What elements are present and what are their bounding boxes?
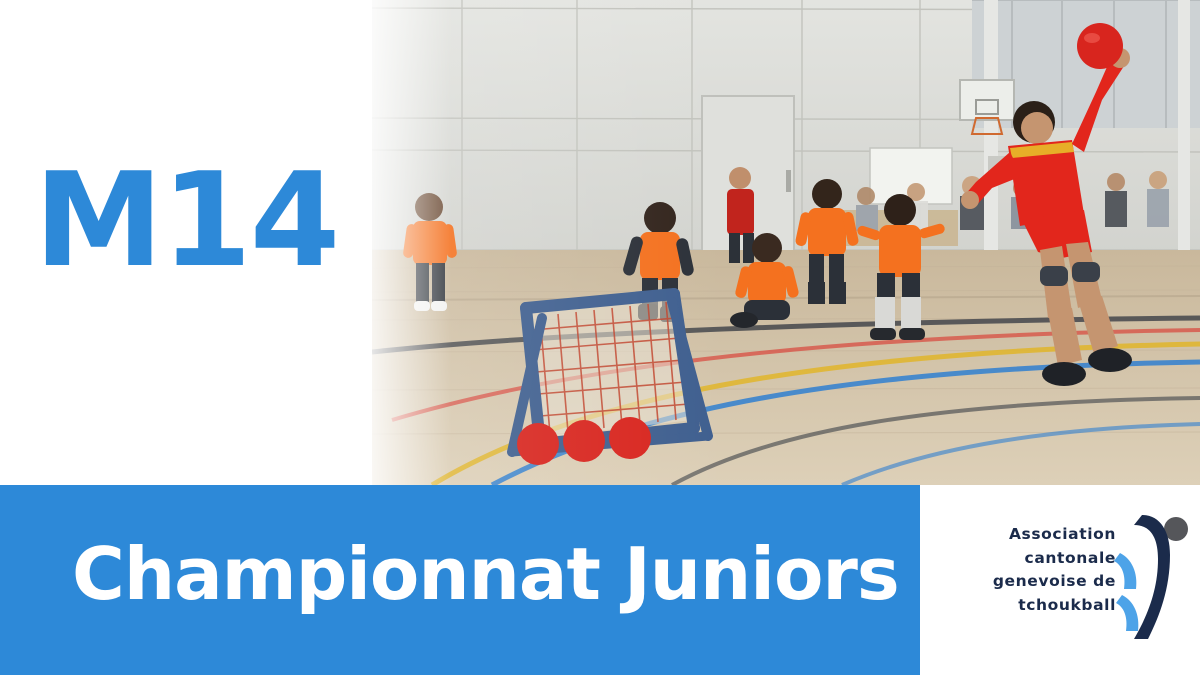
photo-sports-hall (372, 0, 1200, 485)
logo-flame-2 (1116, 595, 1138, 631)
poster-title: Championnat Juniors (72, 538, 899, 610)
poster-canvas: M14 (0, 0, 1200, 675)
logo-line-2: cantonale (936, 547, 1116, 571)
logo-wordmark: Association cantonale genevoise de tchou… (936, 523, 1116, 617)
acgt-logo-icon (1108, 507, 1194, 647)
category-label: M14 (34, 155, 338, 285)
logo-line-1: Association (936, 523, 1116, 547)
photo-illustration (372, 0, 1200, 485)
logo-block: Association cantonale genevoise de tchou… (920, 485, 1200, 675)
logo-flame-1 (1114, 553, 1136, 589)
logo-line-3: genevoise de (936, 570, 1116, 594)
logo-line-4: tchoukball (936, 594, 1116, 618)
category-panel: M14 (0, 0, 372, 485)
logo-arc (1134, 515, 1170, 639)
